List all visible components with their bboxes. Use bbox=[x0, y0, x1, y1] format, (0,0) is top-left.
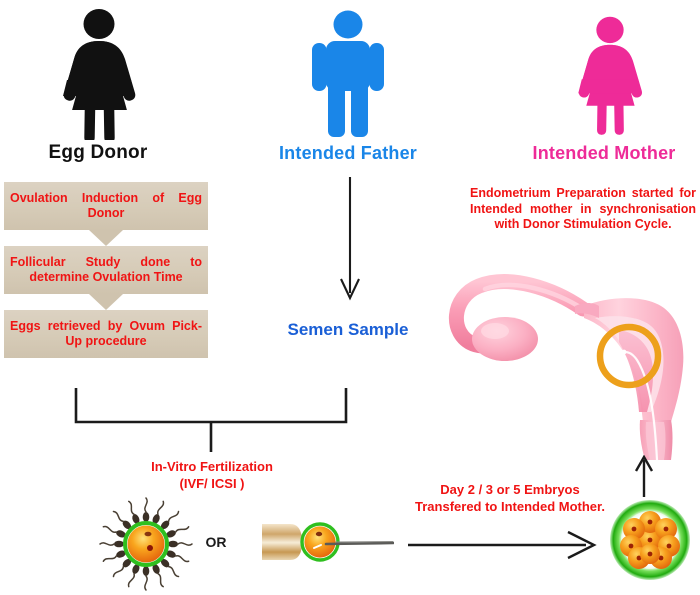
label-semen-sample: Semen Sample bbox=[248, 320, 448, 340]
female-figure-icon-egg-donor bbox=[40, 8, 158, 140]
process-box-text: Follicular Study done to determine Ovula… bbox=[10, 255, 202, 285]
process-box-ovum-pickup: Eggs retrieved by Ovum Pick-Up procedure bbox=[4, 310, 208, 358]
join-bracket bbox=[74, 386, 356, 454]
ivf-line-1: In-Vitro Fertilization bbox=[92, 458, 332, 475]
process-box-follicular-study: Follicular Study done to determine Ovula… bbox=[4, 246, 208, 294]
down-arrow-icon-semen bbox=[338, 177, 362, 307]
process-box-ovulation-induction: Ovulation Induction of Egg Donor bbox=[4, 182, 208, 230]
process-box-text: Ovulation Induction of Egg Donor bbox=[10, 191, 202, 221]
icsi-injection-icon bbox=[262, 516, 394, 568]
endometrium-preparation-text: Endometrium Preparation started for Inte… bbox=[470, 186, 696, 233]
label-ivf-icsi: In-Vitro Fertilization (IVF/ ICSI ) bbox=[92, 458, 332, 492]
female-figure-icon-intended-mother bbox=[558, 8, 662, 140]
uterus-anatomy-illustration bbox=[443, 262, 700, 462]
chevron-down-icon-step2 bbox=[89, 294, 123, 310]
label-intended-mother: Intended Mother bbox=[508, 143, 700, 164]
label-intended-father: Intended Father bbox=[248, 143, 448, 164]
multicell-embryo-icon bbox=[606, 496, 694, 584]
label-egg-donor: Egg Donor bbox=[0, 142, 196, 164]
chevron-down-icon-step1 bbox=[89, 230, 123, 246]
embryo-transfer-text: Day 2 / 3 or 5 Embryos Transfered to Int… bbox=[412, 482, 608, 515]
diagram-canvas: Egg Donor Intended Father Intended Mothe… bbox=[0, 0, 700, 595]
up-arrow-icon-to-uterus bbox=[632, 455, 656, 497]
ivf-line-2: (IVF/ ICSI ) bbox=[92, 475, 332, 492]
male-figure-icon-intended-father bbox=[300, 10, 396, 138]
label-or: OR bbox=[192, 534, 240, 550]
process-box-text: Eggs retrieved by Ovum Pick-Up procedure bbox=[10, 319, 202, 349]
right-arrow-icon-transfer bbox=[408, 530, 600, 560]
